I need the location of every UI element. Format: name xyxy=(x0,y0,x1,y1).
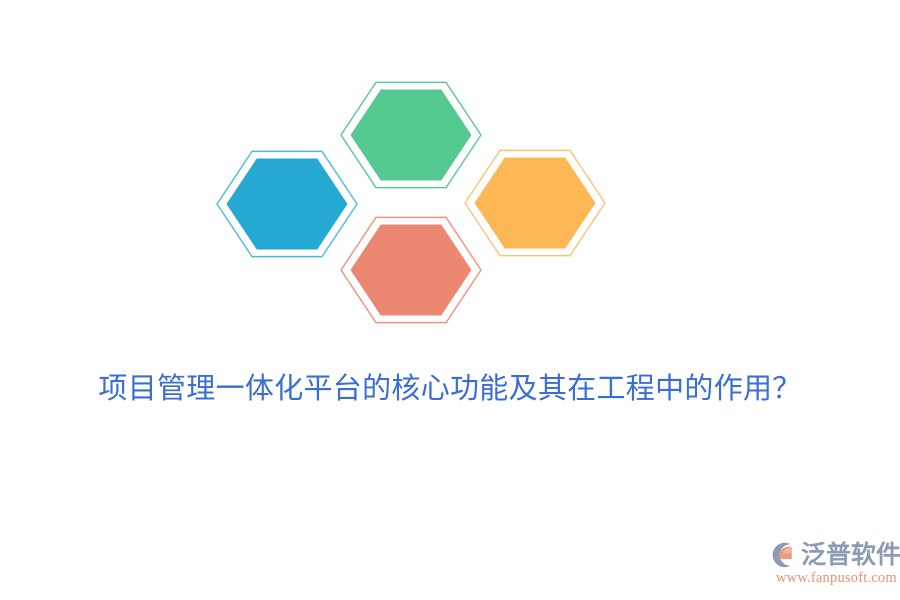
hexagon-orange xyxy=(465,150,605,255)
logo-url: www.fanpusoft.com xyxy=(776,570,896,587)
slide-canvas: 项目管理一体化平台的核心功能及其在工程中的作用？ 泛普软件 www.fanpus… xyxy=(0,0,900,600)
hexagon-cluster xyxy=(0,0,900,360)
hexagon-salmon xyxy=(341,217,481,322)
hexagon-blue xyxy=(217,151,357,256)
hexagon-green xyxy=(341,82,481,187)
page-title: 项目管理一体化平台的核心功能及其在工程中的作用？ xyxy=(0,370,900,408)
logo-row: 泛普软件 xyxy=(768,538,896,572)
logo-wordmark: 泛普软件 xyxy=(801,540,900,570)
brand-logo[interactable]: 泛普软件 www.fanpusoft.com xyxy=(768,538,896,590)
fanpu-c-arc-icon xyxy=(768,540,798,570)
